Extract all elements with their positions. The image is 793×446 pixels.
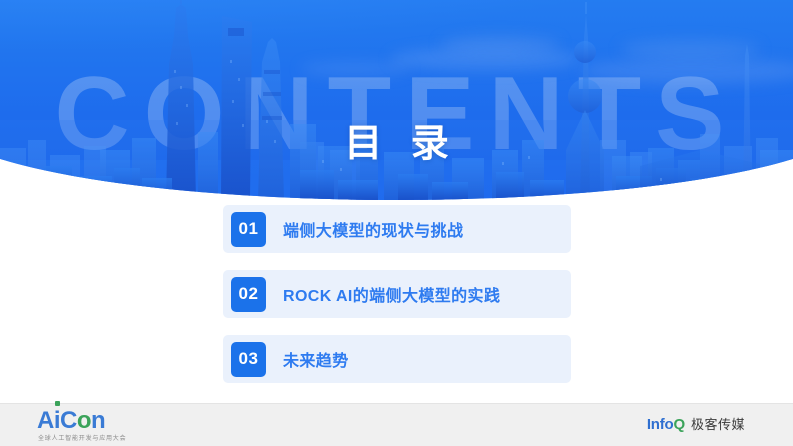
aicon-tagline: 全球人工智能开发与应用大会: [38, 436, 126, 442]
agenda-slide: CONTENTS: [0, 0, 793, 446]
cloud-shape: [440, 36, 560, 52]
toc-item-label: 未来趋势: [283, 347, 349, 371]
toc-item-03[interactable]: 03 未来趋势: [223, 335, 571, 383]
toc-item-02[interactable]: 02 ROCK AI的端侧大模型的实践: [223, 270, 571, 318]
toc-item-label: ROCK AI的端侧大模型的实践: [283, 282, 500, 306]
toc-number-badge: 03: [231, 342, 266, 377]
hero-header: CONTENTS: [0, 0, 793, 200]
infoq-brand: InfoQ 极客传媒: [647, 417, 745, 432]
table-of-contents: 01 端侧大模型的现状与挑战 02 ROCK AI的端侧大模型的实践 03 未来…: [223, 205, 571, 383]
aicon-letter-n: n: [91, 409, 105, 433]
aicon-letter-c: C: [60, 409, 77, 433]
toc-number-badge: 02: [231, 277, 266, 312]
slide-footer: AiCon 全球人工智能开发与应用大会 InfoQ 极客传媒: [0, 403, 793, 446]
toc-item-label: 端侧大模型的现状与挑战: [283, 217, 463, 241]
aicon-brand: AiCon 全球人工智能开发与应用大会: [37, 409, 126, 442]
infoq-q-letter: Q: [674, 416, 685, 433]
aicon-logo: AiCon: [37, 409, 105, 433]
aicon-letter-o: o: [77, 409, 91, 433]
toc-number-badge: 01: [231, 212, 266, 247]
infoq-wordmark: Info: [647, 416, 674, 433]
geek-media-label: 极客传媒: [691, 418, 745, 431]
toc-item-01[interactable]: 01 端侧大模型的现状与挑战: [223, 205, 571, 253]
hero-content-layer: CONTENTS: [0, 0, 793, 200]
aicon-letter-a: A: [37, 409, 54, 433]
page-title: 目 录: [0, 124, 793, 166]
infoq-logo: InfoQ: [647, 417, 685, 432]
aicon-letter-i: i: [54, 409, 60, 433]
